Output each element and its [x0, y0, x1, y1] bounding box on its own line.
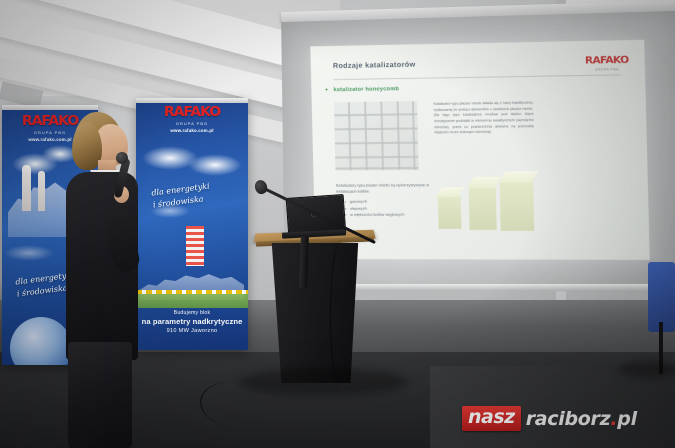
rafako-wordmark: RAFAKO: [585, 55, 629, 67]
projected-slide: Rodzaje katalizatorów RAFAKO GRUPA PBG ✦…: [310, 40, 649, 260]
list-item: w większości kotłów węglowych: [345, 212, 405, 219]
presenter: [58, 112, 178, 448]
lectern-shadow: [238, 368, 408, 396]
presentation-photo: Rodzaje katalizatorów RAFAKO GRUPA PBG ✦…: [0, 0, 675, 448]
slide-paragraph: Katalizator typu plaster miodu składa si…: [433, 100, 534, 136]
honeycomb-grid-photo: [334, 101, 419, 171]
banner-rail: [2, 105, 98, 110]
slide-logo: RAFAKO GRUPA PBG: [586, 55, 628, 72]
chimney: [38, 171, 45, 211]
diamond-bullet-icon: ✦: [324, 87, 328, 93]
chair-shadow: [618, 360, 675, 378]
catalyst-block: [438, 196, 461, 229]
slide-title: Rodzaje katalizatorów: [333, 60, 416, 71]
watermark-logo: nasz raciborz.pl: [462, 406, 637, 431]
rafako-subtitle: GRUPA PBG: [586, 67, 628, 72]
microphone-head: [116, 152, 128, 164]
watermark-tld: pl: [617, 408, 637, 430]
slide-subheading: katalizator honeycomb: [333, 86, 399, 93]
lower-body: [68, 342, 132, 448]
catalyst-blocks-photo: [435, 173, 541, 237]
catalyst-block: [500, 182, 535, 231]
striped-cooling-tower: [186, 226, 204, 266]
slide-list-intro: Katalizatory typu plaster miodu są wykor…: [336, 182, 436, 195]
watermark-prefix: nasz: [468, 406, 515, 428]
slide-bullet-list: gazowych olejowych w większości kotłów w…: [344, 199, 404, 219]
watermark-domain: raciborz.pl: [526, 408, 637, 430]
watermark-suffix: raciborz: [526, 408, 611, 430]
watermark-badge: nasz: [462, 406, 521, 431]
cable: [330, 240, 353, 390]
banner-rail: [136, 98, 248, 103]
catalyst-block: [469, 187, 497, 230]
slide-divider: [333, 74, 620, 80]
